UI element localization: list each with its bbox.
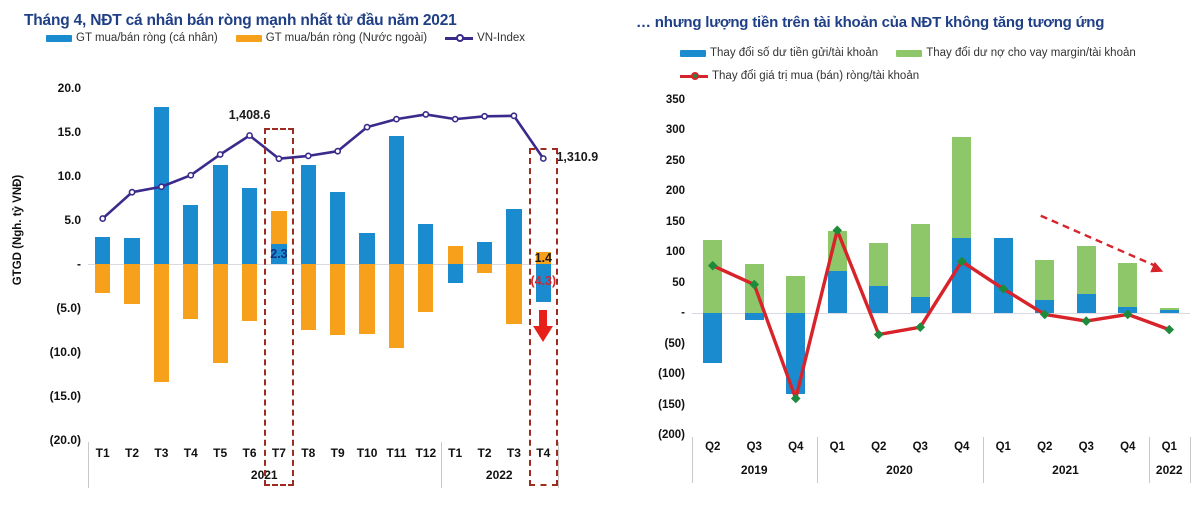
- x-axis-tick-0: T1: [96, 446, 110, 460]
- x-axis-group-2020: 2020: [886, 463, 913, 477]
- x-axis-tick-1: T2: [125, 446, 139, 460]
- legend-marker-icon: [456, 34, 464, 42]
- left-chart-legend: GT mua/bán ròng (cá nhân)GT mua/bán ròng…: [46, 32, 543, 44]
- x-axis-tick-10: T11: [386, 446, 406, 460]
- y-axis-tick: 20.0: [58, 81, 81, 95]
- x-axis-group-separator: [1190, 437, 1191, 483]
- y-axis-tick: 100: [666, 246, 685, 258]
- x-axis-tick-10: Q4: [1120, 441, 1135, 453]
- x-axis-tick-1: Q3: [747, 441, 762, 453]
- red-dashed-down-arrow-icon: [1041, 216, 1156, 266]
- red-line-marker-icon: [680, 75, 708, 78]
- x-axis-tick-7: T8: [301, 446, 315, 460]
- x-axis-tick-0: Q2: [705, 441, 720, 453]
- y-axis-tick: -: [77, 257, 81, 271]
- right-plot-area: 35030025020015010050-(50)(100)(150)(200)…: [692, 100, 1190, 435]
- right-legend-item-1[interactable]: Thay đổi dư nợ cho vay margin/tài khoản: [896, 47, 1136, 59]
- line-marker-8[interactable]: [335, 149, 340, 154]
- x-axis-tick-14: T3: [507, 446, 521, 460]
- x-axis-labels: Q2Q3Q4Q1Q2Q3Q4Q1Q2Q3Q4Q1: [692, 441, 1190, 465]
- line-marker-14[interactable]: [511, 113, 516, 118]
- y-axis-tick: 5.0: [64, 213, 81, 227]
- y-axis-tick: 300: [666, 124, 685, 136]
- x-axis-tick-9: T10: [357, 446, 378, 460]
- x-axis-tick-3: Q1: [830, 441, 845, 453]
- x-axis-tick-6: Q4: [954, 441, 969, 453]
- line-marker-4[interactable]: [218, 152, 223, 157]
- orange-square-icon: [236, 35, 262, 42]
- legend-marker-icon: [691, 72, 699, 80]
- left-chart-title: Tháng 4, NĐT cá nhân bán ròng mạnh nhất …: [24, 12, 457, 30]
- line-series: [88, 88, 558, 440]
- left-chart-panel: Tháng 4, NĐT cá nhân bán ròng mạnh nhất …: [0, 0, 620, 525]
- line-marker-11[interactable]: [423, 112, 428, 117]
- x-axis-tick-11: Q1: [1162, 441, 1177, 453]
- highlight-box-T7: [264, 128, 293, 486]
- y-axis-tick: (100): [658, 368, 685, 380]
- purple-line-marker-icon: [445, 37, 473, 40]
- y-axis-tick: 250: [666, 155, 685, 167]
- vnindex-end-label: 1,310.9: [556, 150, 598, 164]
- left-plot-area: 20.015.010.05.0-(5.0)(10.0)(15.0)(20.0)T…: [88, 88, 558, 440]
- y-axis-tick: 10.0: [58, 169, 81, 183]
- line-marker-1[interactable]: [129, 190, 134, 195]
- x-axis-group-2022: 2022: [1156, 463, 1183, 477]
- y-axis-tick: (20.0): [50, 433, 81, 447]
- red-down-arrow-icon: [530, 310, 556, 349]
- left-legend-item-1[interactable]: GT mua/bán ròng (Nước ngoài): [236, 32, 427, 44]
- left-legend-item-2[interactable]: VN-Index: [445, 32, 525, 44]
- x-axis-tick-3: T4: [184, 446, 198, 460]
- left-legend-item-0[interactable]: GT mua/bán ròng (cá nhân): [46, 32, 218, 44]
- x-axis-tick-9: Q3: [1079, 441, 1094, 453]
- blue-square-icon: [46, 35, 72, 42]
- x-axis-tick-7: Q1: [996, 441, 1011, 453]
- line-marker-0[interactable]: [100, 216, 105, 221]
- blue-square-icon: [680, 50, 706, 57]
- y-axis-tick: 200: [666, 185, 685, 197]
- y-axis-tick: -: [681, 307, 685, 319]
- x-axis-tick-5: Q3: [913, 441, 928, 453]
- right-legend-label: Thay đổi dư nợ cho vay margin/tài khoản: [926, 47, 1136, 59]
- y-axis-tick: 350: [666, 94, 685, 106]
- x-axis-group-2022: 2022: [486, 468, 513, 482]
- y-axis-tick: 15.0: [58, 125, 81, 139]
- left-legend-label: VN-Index: [477, 32, 525, 44]
- right-legend-label: Thay đổi số dư tiền gửi/tài khoản: [710, 47, 878, 59]
- line-marker-10[interactable]: [394, 117, 399, 122]
- x-axis-group-labels: 2019202020212022: [692, 463, 1190, 489]
- y-axis-tick: (10.0): [50, 345, 81, 359]
- left-legend-label: GT mua/bán ròng (Nước ngoài): [266, 32, 427, 44]
- trend-arrow-overlay: [692, 100, 1190, 435]
- x-axis-tick-13: T2: [478, 446, 492, 460]
- right-legend-label: Thay đổi giá trị mua (bán) ròng/tài khoả…: [712, 70, 919, 82]
- left-legend-label: GT mua/bán ròng (cá nhân): [76, 32, 218, 44]
- left-y-axis-title: GTGD (Ngh. tỷ VNĐ): [12, 175, 24, 286]
- line-marker-2[interactable]: [159, 184, 164, 189]
- y-axis-tick: (15.0): [50, 389, 81, 403]
- right-chart-legend-row2: Thay đổi giá trị mua (bán) ròng/tài khoả…: [680, 70, 937, 82]
- line-marker-5[interactable]: [247, 133, 252, 138]
- x-axis-tick-4: Q2: [871, 441, 886, 453]
- x-axis-group-2021: 2021: [1052, 463, 1079, 477]
- line-marker-7[interactable]: [306, 153, 311, 158]
- y-axis-tick: (50): [665, 338, 685, 350]
- x-axis-group-labels: 20212022: [88, 468, 558, 494]
- y-axis-tick: (5.0): [56, 301, 81, 315]
- line-path: [103, 114, 544, 218]
- x-axis-tick-4: T5: [213, 446, 227, 460]
- right-chart-title: … nhưng lượng tiền trên tài khoản của NĐ…: [636, 14, 1104, 31]
- line-marker-13[interactable]: [482, 114, 487, 119]
- vnindex-peak-label: 1,408.6: [229, 108, 271, 122]
- x-axis-tick-5: T6: [243, 446, 257, 460]
- x-axis-tick-11: T12: [415, 446, 436, 460]
- line-marker-3[interactable]: [188, 173, 193, 178]
- x-axis-tick-2: Q4: [788, 441, 803, 453]
- x-axis-tick-8: Q2: [1037, 441, 1052, 453]
- line-marker-12[interactable]: [453, 117, 458, 122]
- line-marker-9[interactable]: [364, 125, 369, 130]
- x-axis-group-separator: [558, 442, 559, 488]
- right-chart-legend-row1: Thay đổi số dư tiền gửi/tài khoảnThay đổ…: [680, 47, 1154, 59]
- x-axis-tick-12: T1: [448, 446, 462, 460]
- y-axis-tick: (200): [658, 429, 685, 441]
- x-axis-tick-8: T9: [331, 446, 345, 460]
- y-axis-tick: (150): [658, 399, 685, 411]
- green-square-icon: [896, 50, 922, 57]
- right-legend-item-0[interactable]: Thay đổi giá trị mua (bán) ròng/tài khoả…: [680, 70, 919, 82]
- y-axis-tick: 150: [666, 216, 685, 228]
- y-axis-tick: 50: [672, 277, 685, 289]
- right-legend-item-0[interactable]: Thay đổi số dư tiền gửi/tài khoản: [680, 47, 878, 59]
- x-axis-labels: T1T2T3T4T5T6T7T8T9T10T11T12T1T2T3T4: [88, 446, 558, 470]
- x-axis-group-2019: 2019: [741, 463, 768, 477]
- x-axis-tick-2: T3: [154, 446, 168, 460]
